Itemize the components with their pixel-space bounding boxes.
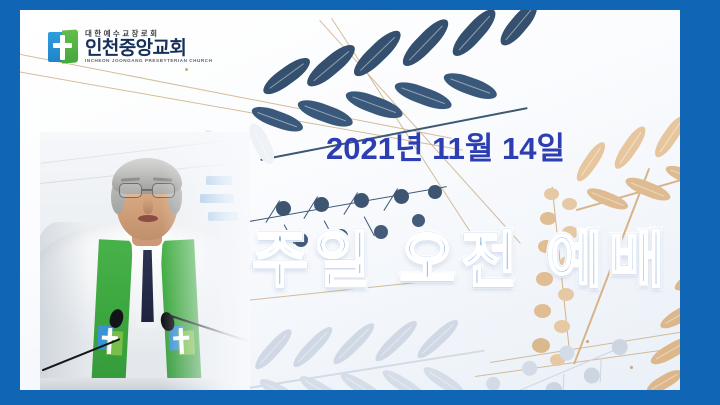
service-title: 주일 오전 예배	[252, 210, 671, 299]
denomination-label: 대한예수교장로회	[85, 30, 213, 38]
church-logo: 대한예수교장로회 인천중앙교회 INCHEON JOONGANG PRESBYT…	[48, 30, 213, 64]
card-stage: 대한예수교장로회 인천중앙교회 INCHEON JOONGANG PRESBYT…	[20, 10, 680, 390]
church-logo-text: 대한예수교장로회 인천중앙교회 INCHEON JOONGANG PRESBYT…	[85, 30, 213, 63]
church-english-name-label: INCHEON JOONGANG PRESBYTERIAN CHURCH	[85, 59, 213, 64]
service-title-card: 대한예수교장로회 인천중앙교회 INCHEON JOONGANG PRESBYT…	[0, 0, 720, 405]
church-name-label: 인천중앙교회	[85, 39, 213, 58]
preacher-photo	[40, 132, 250, 390]
photo-edge-fade	[40, 132, 250, 390]
church-door-cross-icon	[48, 30, 78, 64]
service-date: 2021년 11월 14일	[326, 123, 565, 168]
